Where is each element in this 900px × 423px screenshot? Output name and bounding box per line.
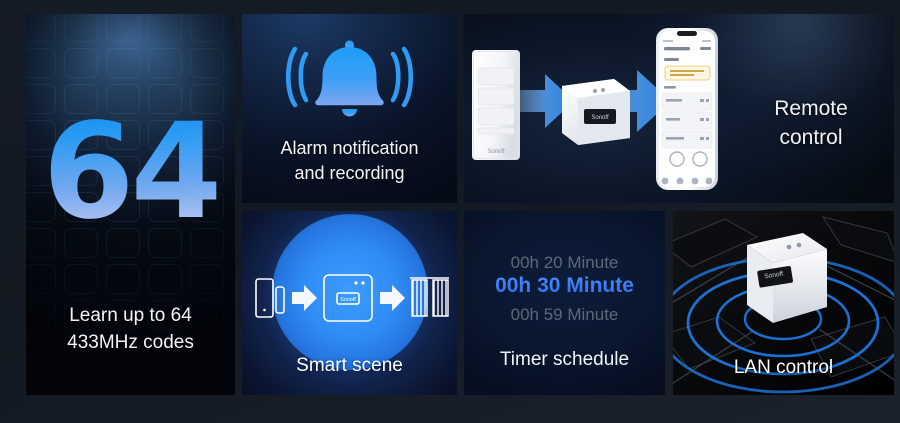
svg-text:Sonoff: Sonoff [340,297,356,303]
caption-line-1: Learn up to 64 [26,303,235,330]
hub-device: Sonoff [747,233,827,323]
caption-remote: Remote control [736,94,886,153]
timer-option-below[interactable]: 00h 59 Minute [464,305,665,325]
caption-learn-codes: Learn up to 64 433MHz codes [26,303,235,357]
bell-icon [242,32,457,128]
panel-smart-scene: Sonoff [242,211,457,395]
caption-timer: Timer schedule [464,349,665,371]
panel-alarm-notification: Alarm notification and recording [242,14,457,203]
caption-line-2: control [736,123,886,152]
timer-option-selected[interactable]: 00h 30 Minute [464,274,665,298]
phone-device [656,28,718,190]
panel-timer-schedule: 00h 20 Minute 00h 30 Minute 00h 59 Minut… [464,211,665,395]
feature-grid: 64 Learn up to 64 433MHz codes [0,0,900,423]
svg-text:Sonoff: Sonoff [591,115,609,121]
panel-learn-codes: 64 Learn up to 64 433MHz codes [26,14,235,395]
timer-option-above[interactable]: 00h 20 Minute [464,253,665,273]
caption-line-2: 433MHz codes [26,330,235,357]
scene-flow-row: Sonoff [242,269,457,327]
arrow-icon-1 [292,285,317,311]
curtain-icon [410,278,449,316]
big-number-64: 64 [26,106,235,238]
caption-alarm: Alarm notification and recording [242,136,457,187]
door-sensor-icon [256,279,284,317]
bell-icon-wrap [242,32,457,128]
panel-remote-control: Sonoff Sonoff [464,14,894,203]
panel-lan-control: Sonoff LAN control [673,211,894,395]
arrow-icon-2 [380,285,405,311]
hub-device: Sonoff [562,79,630,145]
caption-line-2: and recording [242,161,457,187]
scene-flow-icons: Sonoff [250,269,450,327]
caption-line-1: Remote [736,94,886,123]
caption-line-1: Alarm notification [242,136,457,162]
caption-smart-scene: Smart scene [242,355,457,377]
caption-lan: LAN control [673,357,894,379]
wall-remote-device: Sonoff [472,50,520,160]
svg-text:Sonoff: Sonoff [487,149,505,155]
